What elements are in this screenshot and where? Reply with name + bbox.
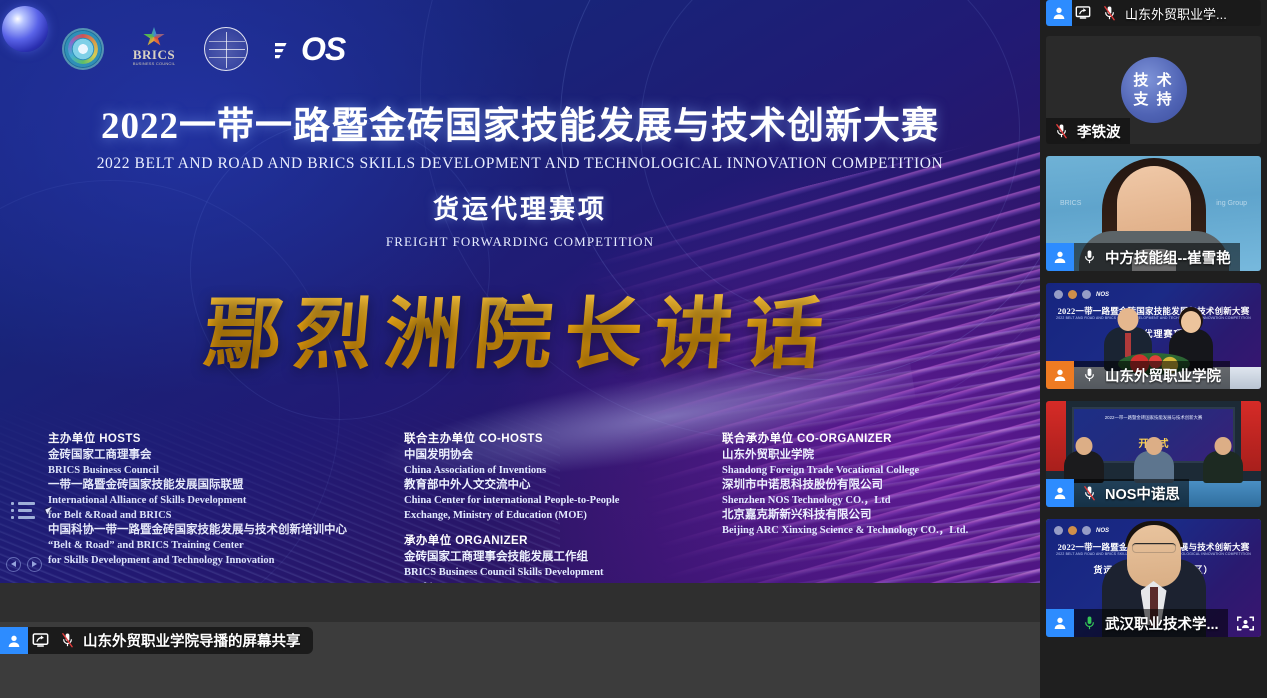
- organizer-column-cohosts: 联合主办单位 CO-HOSTS 中国发明协会 China Association…: [404, 430, 724, 583]
- participant-avatar-icon: [1046, 479, 1074, 507]
- participant-tile-header[interactable]: 山东外贸职业学...: [1046, 0, 1261, 26]
- mini-slide-subtitle: 2022 BELT AND ROAD AND BRICS SKILLS DEVE…: [1046, 316, 1261, 320]
- organizer-line: Beijing ARC Xinxing Science & Technology…: [722, 523, 1032, 538]
- one-belt-one-road-emblem-icon: [62, 28, 104, 70]
- organizer-line: 中国发明协会: [404, 448, 724, 463]
- organizer-line: “Belt & Road” and BRICS Training Center: [48, 538, 378, 553]
- organizer-line: 金砖国家工商理事会: [48, 448, 378, 463]
- organizer-line: 山东外贸职业学院: [722, 448, 1032, 463]
- slide-title-block: 2022一带一路暨金砖国家技能发展与技术创新大赛 2022 BELT AND R…: [0, 104, 1040, 250]
- list-menu-icon[interactable]: [8, 497, 38, 523]
- participant-tile-shandong-college[interactable]: NOS 2022一带一路暨金砖国家技能发展与技术创新大赛 2022 BELT A…: [1046, 283, 1261, 389]
- nos-logo-text: OS: [301, 31, 345, 67]
- organizer-line: 深圳市中诺思科技股份有限公司: [722, 478, 1032, 493]
- organizer-line: 教育部中外人文交流中心: [404, 478, 724, 493]
- bottom-bar: 山东外贸职业学院导播的屏幕共享: [0, 622, 1040, 660]
- screen-share-icon: [1072, 6, 1094, 20]
- organizer-line: Working Group: [404, 580, 724, 583]
- sponsor-logo-row: BRICS BUSINESS COUNCIL OS: [62, 27, 345, 71]
- organizer-line: Shandong Foreign Trade Vocational Colleg…: [722, 463, 1032, 478]
- participant-avatar-icon: [0, 627, 28, 654]
- tech-support-badge: 技 术 支 持: [1121, 57, 1187, 123]
- screen-share-owner-name: 山东外贸职业学院导播的屏幕共享: [83, 630, 301, 651]
- gallery-view-icon[interactable]: [1236, 615, 1255, 632]
- participant-name: 山东外贸职业学...: [1125, 4, 1227, 23]
- brics-logo-subtext: BUSINESS COUNCIL: [133, 61, 176, 66]
- participant-namebar: 武汉职业技术学...: [1046, 609, 1228, 637]
- participant-namebar: NOS中诺思: [1046, 479, 1189, 507]
- participant-avatar-icon: [1046, 0, 1072, 26]
- organizer-heading: 联合承办单位 CO-ORGANIZER: [722, 430, 1032, 446]
- participant-avatar-icon: [1046, 609, 1074, 637]
- participant-tile-li-tiebo[interactable]: 技 术 支 持 李铁波: [1046, 36, 1261, 144]
- brics-logo-text: BRICS: [133, 48, 175, 61]
- organizer-line: International Alliance of Skills Develop…: [48, 493, 378, 508]
- participant-avatar-icon: [1046, 243, 1074, 271]
- slide-section-en: FREIGHT FORWARDING COMPETITION: [0, 234, 1040, 250]
- slide-navigation-bar[interactable]: [0, 551, 50, 577]
- participant-name: 中方技能组--崔雪艳: [1105, 247, 1231, 268]
- microphone-on-icon: [1078, 367, 1100, 384]
- shared-screen-area[interactable]: BRICS BUSINESS COUNCIL OS 2022一带一路暨金砖国家: [0, 0, 1040, 660]
- blue-sphere-graphic: [2, 6, 48, 52]
- microphone-on-icon: [1078, 615, 1100, 632]
- organizer-line: 中国科协一带一路暨金砖国家技能发展与技术创新培训中心: [48, 523, 378, 538]
- participant-name: NOS中诺思: [1105, 483, 1180, 504]
- organizer-heading: 承办单位 ORGANIZER: [404, 532, 724, 548]
- slide-title-en: 2022 BELT AND ROAD AND BRICS SKILLS DEVE…: [0, 155, 1040, 173]
- slide-headline-calligraphy: 鄢烈洲院长讲话: [0, 272, 1040, 384]
- wall-screen-title: 2022一带一路暨金砖国家技能发展与技术创新大赛: [1074, 415, 1233, 421]
- participant-tile-cui-xueyan[interactable]: BRICSing Group 中方技能组--崔雪艳: [1046, 156, 1261, 271]
- mini-logo-row: NOS: [1054, 290, 1109, 299]
- participant-tile-wuhan-polytechnic[interactable]: NOS 2022一带一路暨金砖国家技能发展与技术创新大赛 2022 BELT A…: [1046, 519, 1261, 637]
- organizer-line: 一带一路暨金砖国家技能发展国际联盟: [48, 478, 378, 493]
- microphone-on-icon: [1078, 249, 1100, 266]
- organizer-line: 北京嘉克斯新兴科技有限公司: [722, 508, 1032, 523]
- organizer-line: for Skills Development and Technology In…: [48, 553, 378, 568]
- organizer-line: 金砖国家工商理事会技能发展工作组: [404, 550, 724, 565]
- spacer: [404, 523, 724, 532]
- organizer-line: China Association of Inventions: [404, 463, 724, 478]
- person-glasses: [1132, 543, 1176, 553]
- microphone-muted-icon: [56, 632, 78, 649]
- china-flag-right: [1241, 401, 1261, 471]
- invention-association-globe-emblem-icon: [204, 27, 248, 71]
- organizer-column-coorganizer: 联合承办单位 CO-ORGANIZER 山东外贸职业学院 Shandong Fo…: [722, 430, 1032, 538]
- organizer-line: China Center for international People-to…: [404, 493, 724, 508]
- organizer-line: Exchange, Ministry of Education (MOE): [404, 508, 724, 523]
- participant-avatar-icon: [1046, 361, 1074, 389]
- brics-logo-icon: BRICS BUSINESS COUNCIL: [131, 27, 177, 71]
- organizer-line: BRICS Business Council: [48, 463, 378, 478]
- next-slide-icon[interactable]: [27, 557, 42, 572]
- participant-name: 山东外贸职业学院: [1105, 365, 1221, 386]
- organizer-column-hosts: 主办单位 HOSTS 金砖国家工商理事会 BRICS Business Coun…: [48, 430, 378, 568]
- participant-name: 武汉职业技术学...: [1105, 613, 1219, 634]
- screen-share-icon: [28, 633, 52, 648]
- microphone-muted-icon: [1078, 485, 1100, 502]
- participant-filmstrip[interactable]: 山东外贸职业学... 技 术 支 持 李铁波: [1040, 0, 1267, 698]
- participant-name: 李铁波: [1077, 121, 1121, 142]
- microphone-muted-icon: [1098, 5, 1120, 22]
- presentation-slide[interactable]: BRICS BUSINESS COUNCIL OS 2022一带一路暨金砖国家: [0, 0, 1040, 583]
- china-flag-left: [1046, 401, 1066, 471]
- slide-section-cn: 货运代理赛项: [0, 189, 1040, 226]
- organizer-heading: 联合主办单位 CO-HOSTS: [404, 430, 724, 446]
- screen-share-label[interactable]: 山东外贸职业学院导播的屏幕共享: [0, 627, 313, 654]
- brics-star-icon: [143, 27, 165, 47]
- participant-namebar: 山东外贸职业学院: [1046, 361, 1230, 389]
- previous-slide-icon[interactable]: [6, 557, 21, 572]
- participant-namebar: 李铁波: [1046, 118, 1130, 144]
- mini-logo-row: NOS: [1054, 526, 1109, 535]
- person-face: [1127, 525, 1181, 587]
- organizer-heading: 主办单位 HOSTS: [48, 430, 378, 446]
- participant-namebar: 中方技能组--崔雪艳: [1046, 243, 1240, 271]
- nos-logo-icon: OS: [275, 31, 345, 68]
- mini-slide-section: 货运代理赛项: [1046, 327, 1261, 340]
- organizer-line: BRICS Business Council Skills Developmen…: [404, 565, 724, 580]
- organizer-line: Shenzhen NOS Technology CO.，Ltd: [722, 493, 1032, 508]
- person-seated-right: [1203, 451, 1243, 483]
- badge-line-1: 技 术: [1133, 71, 1173, 90]
- badge-line-2: 支 持: [1133, 90, 1173, 109]
- microphone-muted-icon: [1050, 123, 1072, 140]
- slide-title-cn: 2022一带一路暨金砖国家技能发展与技术创新大赛: [0, 104, 1040, 150]
- participant-tile-nos[interactable]: 2022一带一路暨金砖国家技能发展与技术创新大赛 开幕式: [1046, 401, 1261, 507]
- zoom-meeting-window: BRICS BUSINESS COUNCIL OS 2022一带一路暨金砖国家: [0, 0, 1267, 698]
- organizer-line: for Belt &Road and BRICS: [48, 508, 378, 523]
